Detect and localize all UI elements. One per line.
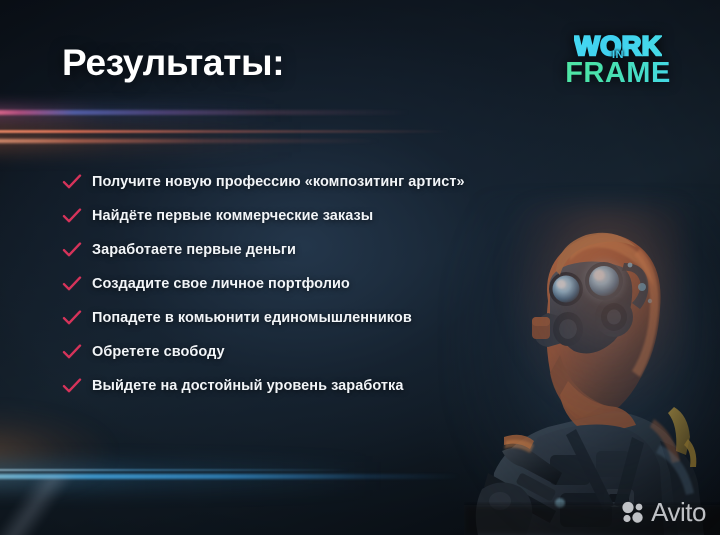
logo-row-frame: FRAME	[552, 60, 684, 88]
work-in-frame-logo: WORK IN FRAME	[552, 33, 684, 95]
page-title: Результаты:	[62, 44, 284, 81]
check-icon	[62, 174, 92, 190]
list-item-label: Заработаете первые деньги	[92, 242, 296, 258]
list-item-label: Обретете свободу	[92, 344, 225, 360]
list-item: Создадите свое личное портфолио	[62, 267, 542, 301]
results-checklist: Получите новую профессию «композитинг ар…	[62, 165, 542, 403]
light-streak-orange-upper	[0, 130, 450, 133]
logo-text-frame: FRAME	[565, 59, 671, 88]
list-item-label: Создадите свое личное портфолио	[92, 276, 350, 292]
light-streak-cyan	[0, 474, 460, 479]
list-item-label: Получите новую профессию «композитинг ар…	[92, 174, 465, 190]
check-icon	[62, 344, 92, 360]
check-icon	[62, 310, 92, 326]
list-item: Найдёте первые коммерческие заказы	[62, 199, 542, 233]
list-item: Выйдете на достойный уровень заработка	[62, 369, 542, 403]
check-icon	[62, 378, 92, 394]
list-item: Получите новую профессию «композитинг ар…	[62, 165, 542, 199]
avito-watermark: Avito	[621, 499, 706, 525]
avito-wordmark: Avito	[651, 499, 706, 525]
list-item: Попадете в комьюнити единомышленников	[62, 301, 542, 335]
lens-flare-diagonal	[0, 476, 110, 535]
promo-slide: Результаты: WORK IN FRAME Получите новую…	[0, 0, 720, 535]
light-streak-pink-blue	[0, 110, 410, 115]
list-item-label: Найдёте первые коммерческие заказы	[92, 208, 373, 224]
list-item-label: Выйдете на достойный уровень заработка	[92, 378, 403, 394]
light-streak-pink-glow	[0, 104, 280, 122]
check-icon	[62, 276, 92, 292]
check-icon	[62, 242, 92, 258]
light-streak-orange-lower	[0, 139, 380, 143]
lens-flare-warm	[0, 408, 110, 498]
avito-dots-icon	[621, 500, 645, 524]
light-streak-cyan-thin	[0, 469, 350, 471]
list-item-label: Попадете в комьюнити единомышленников	[92, 310, 412, 326]
list-item: Обретете свободу	[62, 335, 542, 369]
check-icon	[62, 208, 92, 224]
light-streak-orange-glow	[0, 122, 300, 152]
light-streak-cyan-glow	[0, 462, 380, 490]
logo-row-work: WORK IN	[552, 33, 684, 60]
list-item: Заработаете первые деньги	[62, 233, 542, 267]
